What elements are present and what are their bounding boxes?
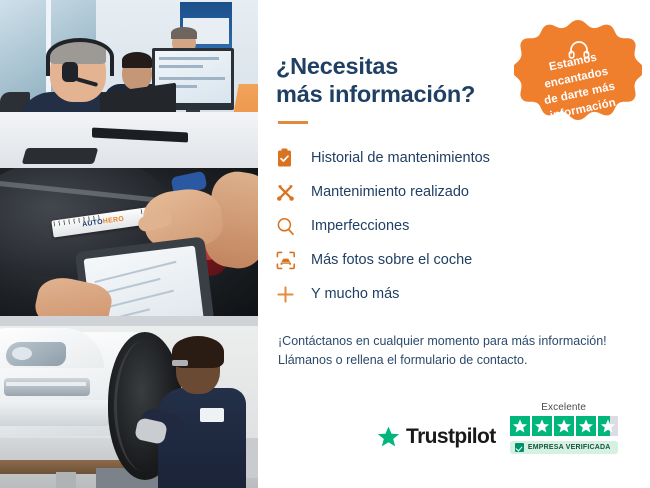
content-panel: ¿Necesitas más información? Historial de… <box>258 0 650 488</box>
star-half <box>598 416 618 436</box>
trustpilot-widget[interactable]: Trustpilot Excelente <box>376 402 618 454</box>
contact-text-line1: ¡Contáctanos en cualquier momento para m… <box>278 334 607 348</box>
mechanic-uniform-patch <box>200 408 224 422</box>
trustpilot-rating-label: Excelente <box>541 402 586 413</box>
feature-label: Y mucho más <box>311 286 399 302</box>
autohero-ruler-car-inspection-photo: AUTOHERO <box>0 168 258 326</box>
title-underline <box>278 121 308 124</box>
feature-item-much-more: Y mucho más <box>276 278 650 310</box>
second-agent-hair <box>122 52 152 68</box>
promo-starburst-badge: Estamos encantados de darte más informac… <box>514 16 642 144</box>
background-person-hair <box>171 27 197 39</box>
trustpilot-wordmark: Trustpilot <box>406 425 496 449</box>
magnifier-icon <box>276 215 302 237</box>
feature-item-maintenance-done: Mantenimiento realizado <box>276 176 650 208</box>
call-center-agent-headset-photo <box>0 0 258 168</box>
photo-bottom-strip <box>0 316 258 326</box>
trustpilot-logo[interactable]: Trustpilot <box>376 425 496 449</box>
car-headlight <box>6 342 66 366</box>
feature-label: Más fotos sobre el coche <box>311 252 472 268</box>
feature-label: Imperfecciones <box>311 218 409 234</box>
contact-text: ¡Contáctanos en cualquier momento para m… <box>278 332 638 370</box>
trustpilot-star-rating <box>510 416 618 436</box>
feature-list: Historial de mantenimientos M <box>276 142 650 310</box>
vehicle-lift-post <box>56 472 76 488</box>
tablet-screen-line <box>94 261 176 283</box>
feature-item-more-photos: Más fotos sobre el coche <box>276 244 650 276</box>
car-grille-chrome <box>6 382 86 386</box>
page-title-line2: más información? <box>276 81 475 107</box>
clipboard-check-icon <box>276 147 302 169</box>
photo-column: AUTOHERO <box>0 0 258 488</box>
screen-row <box>159 77 225 80</box>
agent-headset-band <box>46 38 114 76</box>
car-grille <box>4 378 90 396</box>
feature-label: Historial de mantenimientos <box>311 150 490 166</box>
information-banner: AUTOHERO <box>0 0 650 488</box>
star-filled <box>554 416 574 436</box>
feature-item-maintenance-history: Historial de mantenimientos <box>276 142 650 174</box>
trustpilot-rating-block: Excelente <box>510 402 618 454</box>
mechanic-wheel-inspection-photo <box>0 326 258 488</box>
check-icon <box>515 443 524 452</box>
verified-company-badge: EMPRESA VERIFICADA <box>510 441 618 454</box>
feature-item-imperfections: Imperfecciones <box>276 210 650 242</box>
feature-label: Mantenimiento realizado <box>311 184 469 200</box>
verified-label: EMPRESA VERIFICADA <box>528 444 611 451</box>
mechanic-safety-glasses <box>172 360 188 366</box>
trustpilot-star-icon <box>376 425 401 449</box>
star-filled <box>510 416 530 436</box>
car-bumper <box>0 400 114 426</box>
page-title-line1: ¿Necesitas <box>276 53 398 79</box>
plus-icon <box>276 283 302 305</box>
screen-row <box>159 65 203 68</box>
desk-tablet <box>22 148 99 164</box>
star-filled <box>576 416 596 436</box>
wrench-screwdriver-icon <box>276 181 302 203</box>
car-scan-icon <box>276 249 302 271</box>
contact-text-line2: Llámanos o rellena el formulario de cont… <box>278 353 527 367</box>
star-filled <box>532 416 552 436</box>
screen-row <box>159 57 219 60</box>
page-title: ¿Necesitas más información? <box>276 52 506 108</box>
